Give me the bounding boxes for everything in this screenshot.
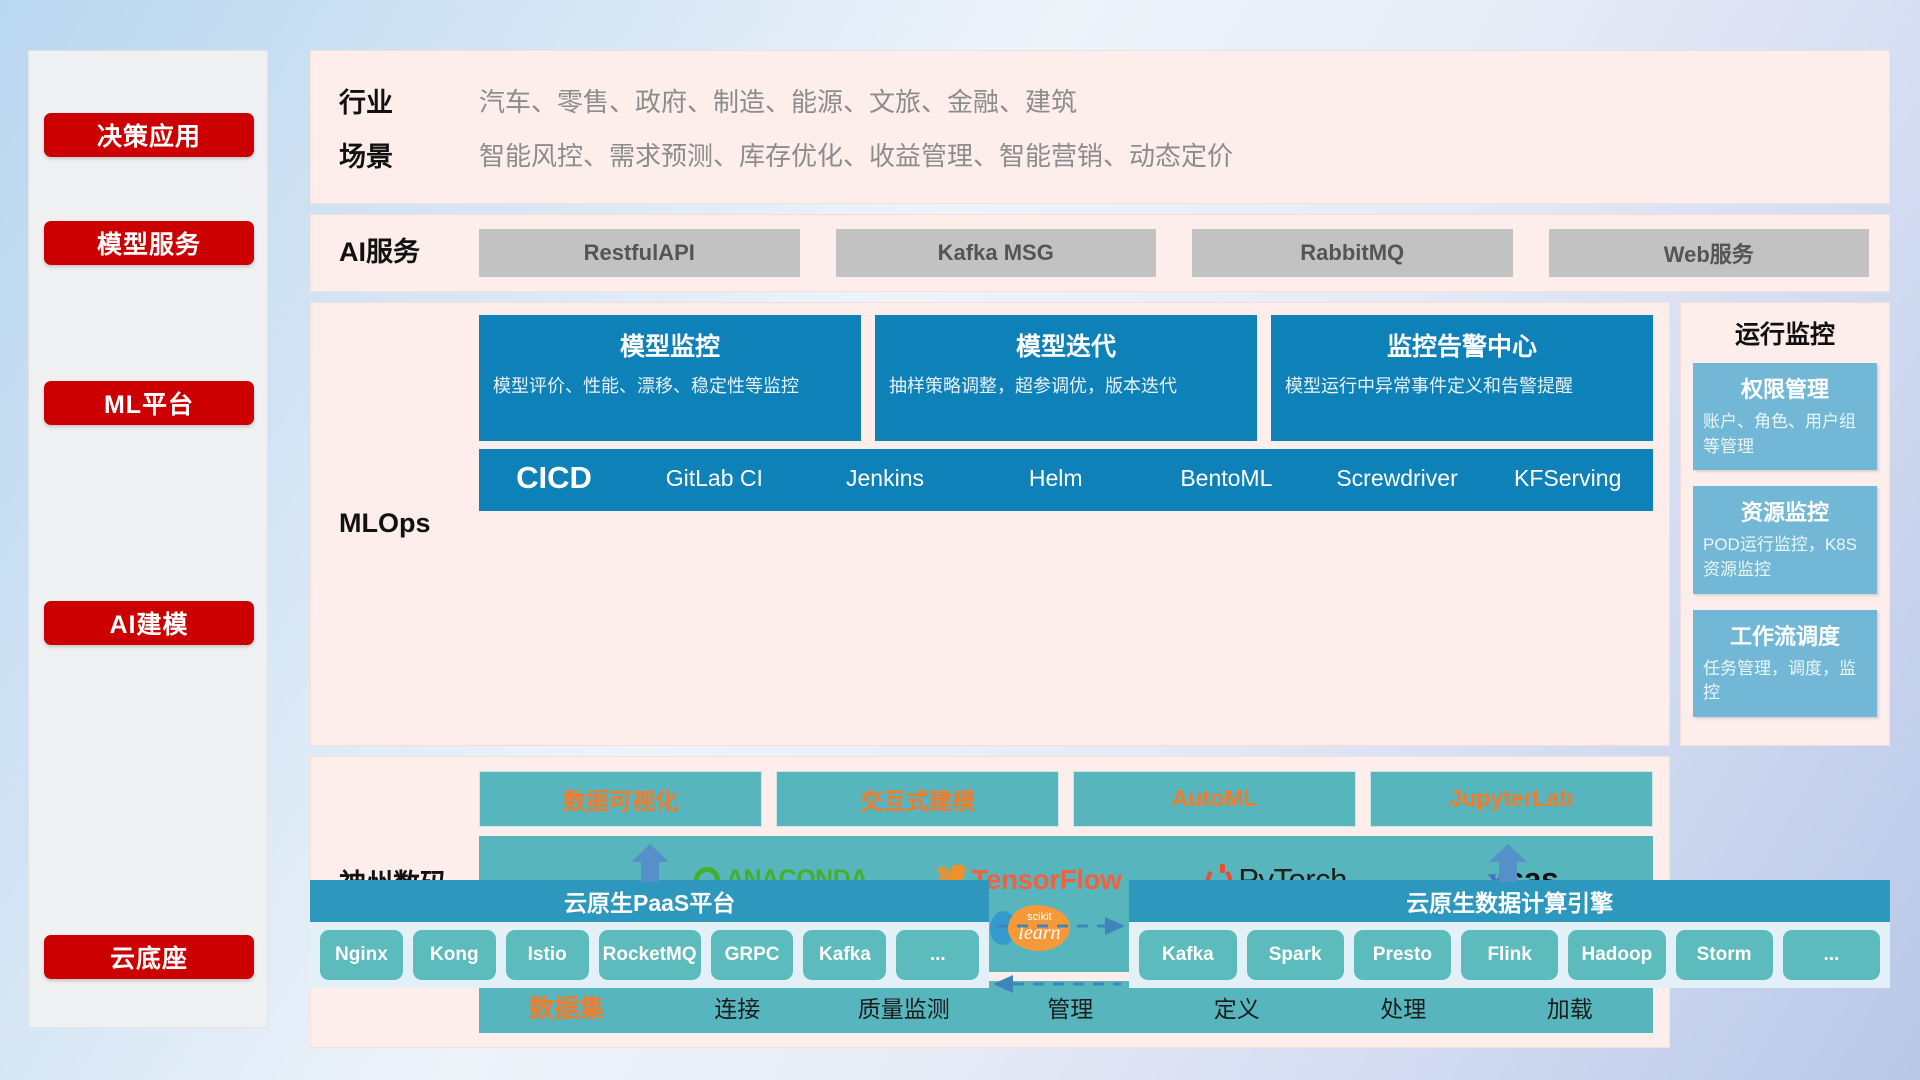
mlops-card-desc: 模型评价、性能、漂移、稳定性等监控: [493, 373, 847, 399]
cicd-heading: CICD: [479, 449, 629, 496]
engine-chip-more[interactable]: ...: [1783, 930, 1880, 980]
monitor-card-resource[interactable]: 资源监控 POD运行监控，K8S资源监控: [1693, 486, 1877, 593]
cicd-item-helm[interactable]: Helm: [970, 449, 1141, 493]
engine-chip-presto[interactable]: Presto: [1354, 930, 1451, 980]
engine-title: 云原生数据计算引擎: [1129, 880, 1890, 922]
paas-chip-list: Nginx Kong Istio RocketMQ GRPC Kafka ...: [310, 922, 989, 988]
monitor-card-title: 工作流调度: [1703, 619, 1867, 651]
paas-block: 云原生PaaS平台 Nginx Kong Istio RocketMQ GRPC…: [310, 880, 989, 988]
paas-chip-grpc[interactable]: GRPC: [711, 930, 794, 980]
mlops-card-title: 模型迭代: [889, 327, 1243, 363]
mlops-card-desc: 模型运行中异常事件定义和告警提醒: [1285, 373, 1639, 399]
paas-chip-kong[interactable]: Kong: [413, 930, 496, 980]
paas-up-arrow-icon: [629, 844, 671, 882]
rail-item-model-service[interactable]: 模型服务: [44, 221, 254, 265]
mlops-card-title: 监控告警中心: [1285, 327, 1639, 363]
engine-chip-kafka[interactable]: Kafka: [1139, 930, 1236, 980]
paas-chip-nginx[interactable]: Nginx: [320, 930, 403, 980]
tool-chip-jupyterlab[interactable]: JupyterLab: [1370, 771, 1653, 827]
paas-chip-more[interactable]: ...: [896, 930, 979, 980]
rail-item-cloud-base[interactable]: 云底座: [44, 935, 254, 979]
engine-chip-hadoop[interactable]: Hadoop: [1568, 930, 1665, 980]
modeling-tool-list: 数据可视化 交互式建模 AutoML JupyterLab: [479, 771, 1653, 827]
runtime-monitor-panel: 运行监控 权限管理 账户、角色、用户组等管理 资源监控 POD运行监控，K8S资…: [1680, 302, 1890, 746]
monitor-card-desc: POD运行监控，K8S资源监控: [1703, 533, 1867, 582]
ai-service-chip-web[interactable]: Web服务: [1549, 229, 1870, 277]
mlops-label: MLOps: [339, 315, 479, 733]
scenario-label: 场景: [339, 127, 479, 181]
mlops-card-model-iteration[interactable]: 模型迭代 抽样策略调整，超参调优，版本迭代: [875, 315, 1257, 441]
cicd-item-gitlab-ci[interactable]: GitLab CI: [629, 449, 800, 493]
industry-values: 汽车、零售、政府、制造、能源、文旅、金融、建筑: [479, 73, 1871, 127]
industry-scenario-values: 汽车、零售、政府、制造、能源、文旅、金融、建筑 智能风控、需求预测、库存优化、收…: [479, 73, 1871, 181]
engine-block: 云原生数据计算引擎 Kafka Spark Presto Flink Hadoo…: [1129, 880, 1890, 988]
cicd-item-kfserving[interactable]: KFServing: [1482, 449, 1653, 493]
link-arrows-icon: [989, 904, 1129, 1024]
cicd-item-bentoml[interactable]: BentoML: [1141, 449, 1312, 493]
paas-chip-istio[interactable]: Istio: [506, 930, 589, 980]
tool-chip-data-visualization[interactable]: 数据可视化: [479, 771, 762, 827]
scenario-values: 智能风控、需求预测、库存优化、收益管理、智能营销、动态定价: [479, 127, 1871, 181]
rail-item-ml-platform[interactable]: ML平台: [44, 381, 254, 425]
engine-chip-flink[interactable]: Flink: [1461, 930, 1558, 980]
engine-chip-storm[interactable]: Storm: [1676, 930, 1773, 980]
paas-chip-rocketmq[interactable]: RocketMQ: [599, 930, 701, 980]
tool-chip-automl[interactable]: AutoML: [1073, 771, 1356, 827]
paas-chip-kafka[interactable]: Kafka: [803, 930, 886, 980]
mlops-monitor-row: MLOps 模型监控 模型评价、性能、漂移、稳定性等监控 模型迭代 抽样策略调整…: [310, 302, 1890, 746]
mlops-card-title: 模型监控: [493, 327, 847, 363]
cloud-foundation-row: 云原生PaaS平台 Nginx Kong Istio RocketMQ GRPC…: [310, 880, 1890, 1030]
mlops-card-desc: 抽样策略调整，超参调优，版本迭代: [889, 373, 1243, 399]
rail-item-ai-modeling[interactable]: AI建模: [44, 601, 254, 645]
engine-chip-spark[interactable]: Spark: [1247, 930, 1344, 980]
cicd-bar: CICD GitLab CI Jenkins Helm BentoML Scre…: [479, 449, 1653, 511]
mlops-band: MLOps 模型监控 模型评价、性能、漂移、稳定性等监控 模型迭代 抽样策略调整…: [310, 302, 1670, 746]
stack-layer-rail: 决策应用 模型服务 ML平台 AI建模 云底座: [28, 50, 268, 1028]
mlops-content: 模型监控 模型评价、性能、漂移、稳定性等监控 模型迭代 抽样策略调整，超参调优，…: [479, 315, 1653, 733]
paas-title: 云原生PaaS平台: [310, 880, 989, 922]
cicd-item-jenkins[interactable]: Jenkins: [800, 449, 971, 493]
tool-chip-interactive-modeling[interactable]: 交互式建模: [776, 771, 1059, 827]
ai-service-chip-rabbitmq[interactable]: RabbitMQ: [1192, 229, 1513, 277]
monitor-card-title: 资源监控: [1703, 495, 1867, 527]
mlops-card-list: 模型监控 模型评价、性能、漂移、稳定性等监控 模型迭代 抽样策略调整，超参调优，…: [479, 315, 1653, 441]
ai-service-label: AI服务: [339, 236, 479, 270]
mlops-card-model-monitoring[interactable]: 模型监控 模型评价、性能、漂移、稳定性等监控: [479, 315, 861, 441]
runtime-monitor-heading: 运行监控: [1693, 315, 1877, 351]
monitor-card-title: 权限管理: [1703, 372, 1867, 404]
ai-service-chip-kafka-msg[interactable]: Kafka MSG: [836, 229, 1157, 277]
industry-scenario-band: 行业 场景 汽车、零售、政府、制造、能源、文旅、金融、建筑 智能风控、需求预测、…: [310, 50, 1890, 204]
ai-service-chip-list: RestfulAPI Kafka MSG RabbitMQ Web服务: [479, 229, 1869, 277]
mlops-card-alert-center[interactable]: 监控告警中心 模型运行中异常事件定义和告警提醒: [1271, 315, 1653, 441]
engine-chip-list: Kafka Spark Presto Flink Hadoop Storm ..…: [1129, 922, 1890, 988]
industry-label: 行业: [339, 73, 479, 127]
industry-scenario-labels: 行业 场景: [339, 73, 479, 181]
monitor-card-workflow[interactable]: 工作流调度 任务管理，调度，监控: [1693, 610, 1877, 717]
monitor-card-permission[interactable]: 权限管理 账户、角色、用户组等管理: [1693, 363, 1877, 470]
ai-service-band: AI服务 RestfulAPI Kafka MSG RabbitMQ Web服务: [310, 214, 1890, 292]
cicd-item-screwdriver[interactable]: Screwdriver: [1312, 449, 1483, 493]
monitor-card-desc: 任务管理，调度，监控: [1703, 657, 1867, 706]
ai-service-chip-restfulapi[interactable]: RestfulAPI: [479, 229, 800, 277]
engine-up-arrow-icon: [1487, 844, 1529, 882]
rail-item-decision-app[interactable]: 决策应用: [44, 113, 254, 157]
monitor-card-desc: 账户、角色、用户组等管理: [1703, 410, 1867, 459]
